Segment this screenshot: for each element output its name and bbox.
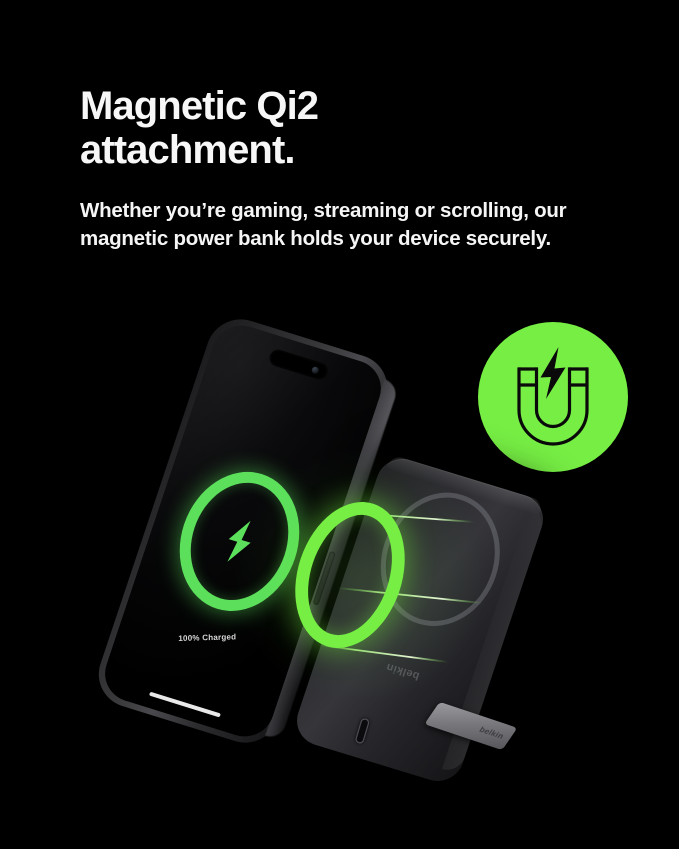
charging-status-text: 100% Charged (178, 632, 236, 643)
belkin-logo: belkin (385, 661, 422, 682)
dynamic-island (267, 348, 330, 382)
copy-block: Magnetic Qi2 attachment. Whether you’re … (80, 84, 600, 253)
page-subcopy: Whether you’re gaming, streaming or scro… (80, 197, 575, 253)
front-camera-icon (311, 365, 320, 374)
kickstand-belkin-logo: belkin (477, 725, 505, 740)
magnet-badge (478, 322, 628, 472)
promo-stage: Magnetic Qi2 attachment. Whether you’re … (0, 0, 679, 849)
magnet-icon (478, 322, 628, 472)
page-title: Magnetic Qi2 attachment. (80, 84, 600, 172)
usb-c-port (354, 717, 370, 744)
